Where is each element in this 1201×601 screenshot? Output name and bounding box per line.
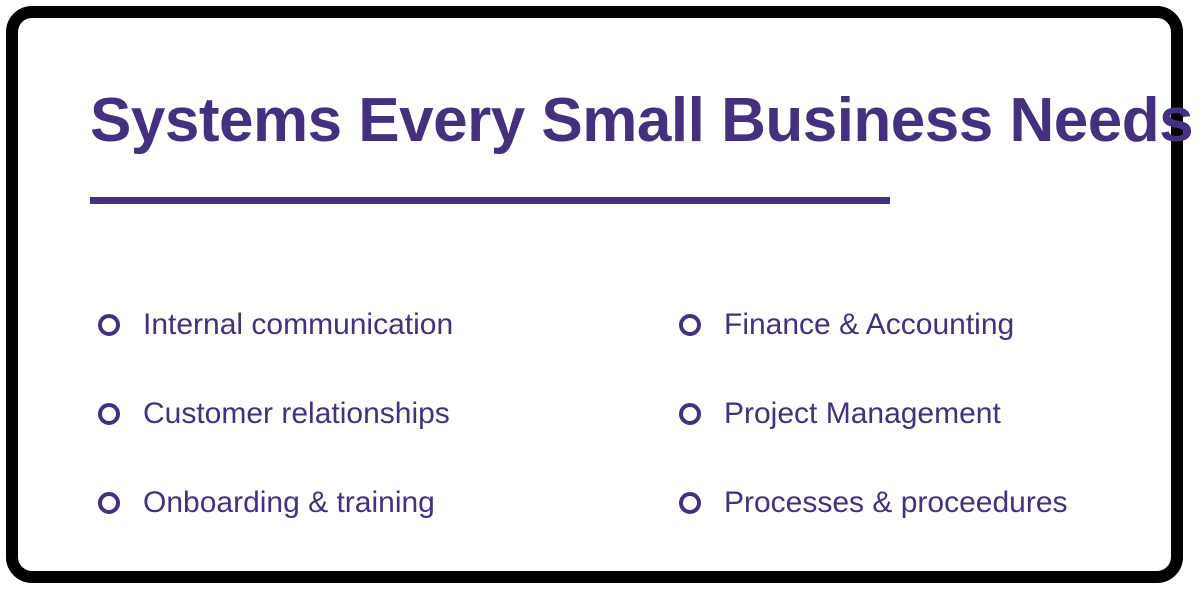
list-item-label: Processes & proceedures (724, 486, 1068, 519)
list-item-label: Finance & Accounting (724, 308, 1014, 341)
list-item[interactable]: Processes & proceedures (596, 458, 1171, 547)
circle-outline-icon (98, 314, 120, 336)
circle-outline-icon (679, 492, 701, 514)
circle-outline-icon (98, 492, 120, 514)
content-card: Systems Every Small Business Needs Inter… (6, 6, 1183, 583)
checklist-grid: Internal communication Finance & Account… (18, 280, 1171, 547)
list-item[interactable]: Project Management (596, 369, 1171, 458)
list-item[interactable]: Onboarding & training (18, 458, 596, 547)
list-item-label: Onboarding & training (143, 486, 435, 519)
list-item[interactable]: Customer relationships (18, 369, 596, 458)
title-divider (90, 197, 890, 204)
list-item[interactable]: Finance & Accounting (596, 280, 1171, 369)
page-title: Systems Every Small Business Needs (90, 90, 1193, 152)
circle-outline-icon (679, 314, 701, 336)
list-item-label: Customer relationships (143, 397, 450, 430)
list-item-label: Internal communication (143, 308, 453, 341)
circle-outline-icon (98, 403, 120, 425)
list-item-label: Project Management (724, 397, 1001, 430)
circle-outline-icon (679, 403, 701, 425)
card-inner: Systems Every Small Business Needs Inter… (18, 18, 1171, 571)
list-item[interactable]: Internal communication (18, 280, 596, 369)
